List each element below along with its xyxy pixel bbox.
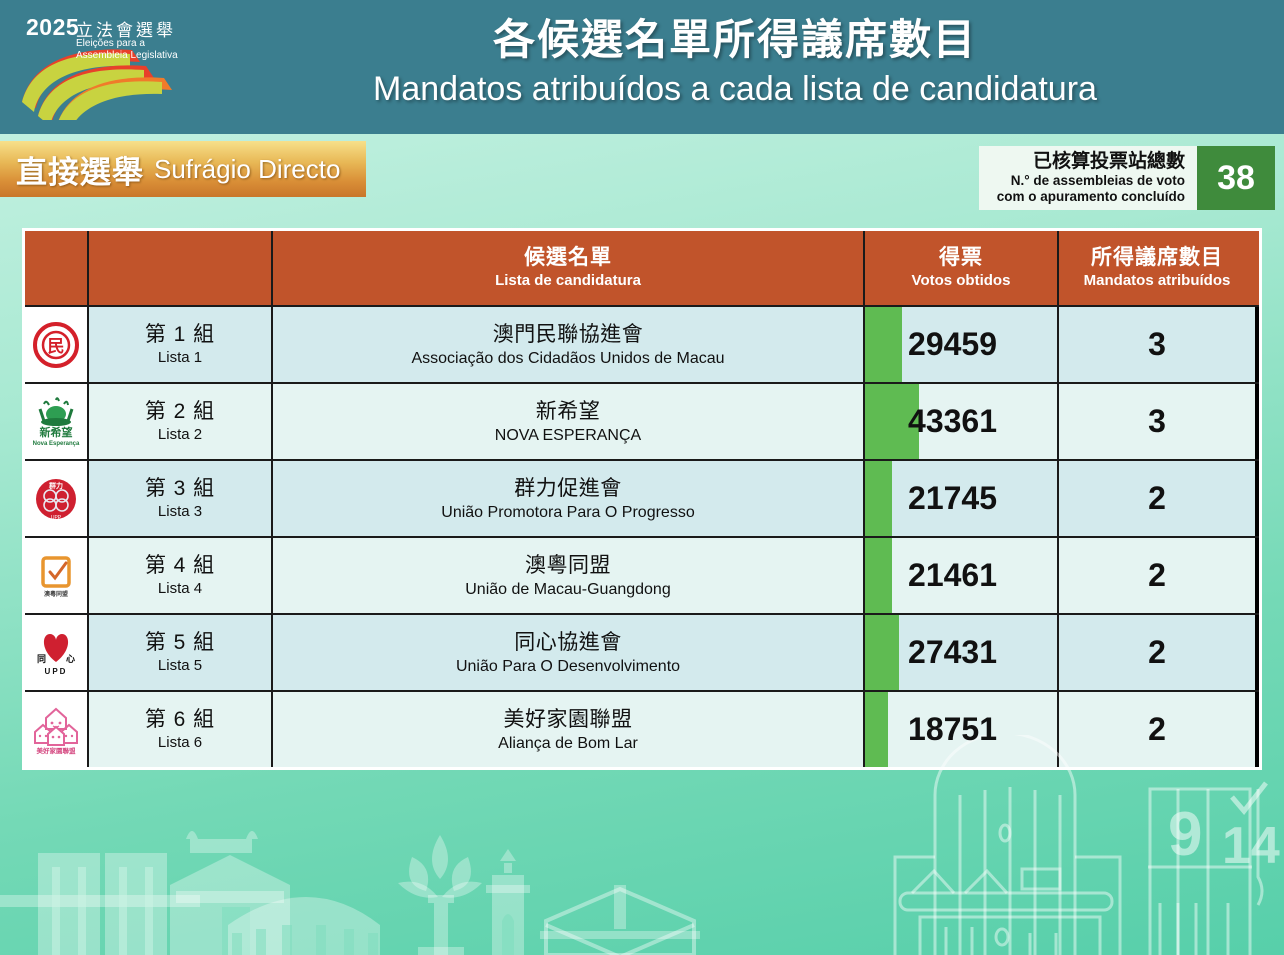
candidate-name-pt: União Promotora Para O Progresso	[441, 502, 694, 523]
candidate-list-name-cell: 群力促進會 União Promotora Para O Progresso	[273, 461, 865, 536]
counter-label-pt-line1: N.° de assembleias de voto	[1011, 173, 1185, 189]
candidate-name-cn: 澳門民聯協進會	[411, 321, 724, 348]
party-logo-cell: 新希望 Nova Esperança	[25, 384, 89, 459]
seats-value: 2	[1148, 557, 1166, 594]
table-row: 群力 UPP 第 3 組 Lista 3 群力促進會 União Promoto…	[25, 459, 1259, 536]
logo-title-pt-line2: Assembleia Legislativa	[76, 50, 178, 61]
header-seats-pt: Mandatos atribuídos	[1084, 271, 1231, 291]
seats-value: 2	[1148, 480, 1166, 517]
list-number-cn: 第 1 組	[145, 322, 215, 348]
date-day-label: 14	[1222, 817, 1280, 875]
date-month-label: 9	[1168, 800, 1202, 869]
candidate-list-name-cell: 澳粵同盟 União de Macau-Guangdong	[273, 538, 865, 613]
candidate-list-name-cell: 美好家園聯盟 Aliança de Bom Lar	[273, 692, 865, 767]
party-logo-cell: 群力 UPP	[25, 461, 89, 536]
candidate-name-pt: NOVA ESPERANÇA	[495, 425, 641, 446]
svg-text:UPD: UPD	[45, 667, 68, 676]
list-number-cell: 第 5 組 Lista 5	[89, 615, 273, 690]
header-candidate-list-column: 候選名單 Lista de candidatura	[273, 231, 865, 305]
candidate-name-cn: 新希望	[495, 398, 641, 425]
list-number-pt: Lista 5	[145, 656, 215, 675]
votes-bar	[865, 307, 902, 382]
list-number-cell: 第 1 組 Lista 1	[89, 307, 273, 382]
votes-cell: 18751	[865, 692, 1059, 767]
counter-label-pt-line2: com o apuramento concluído	[997, 189, 1185, 205]
svg-text:民: 民	[48, 337, 65, 356]
header-votes-cn: 得票	[939, 245, 983, 271]
candidate-list-name-cell: 澳門民聯協進會 Associação dos Cidadãos Unidos d…	[273, 307, 865, 382]
table-row: 民 第 1 組 Lista 1 澳門民聯協進會 Associação dos C…	[25, 305, 1259, 382]
list-number-pt: Lista 4	[145, 579, 215, 598]
svg-text:美好家園聯盟: 美好家園聯盟	[37, 746, 77, 755]
candidate-name-pt: Aliança de Bom Lar	[498, 733, 638, 754]
svg-text:澳粵同盟: 澳粵同盟	[44, 590, 68, 598]
list-number-cn: 第 5 組	[145, 630, 215, 656]
page-header: 2025 立法會選舉 Eleições para a Assembleia Le…	[0, 0, 1284, 134]
election-type-banner: 直接選舉 Sufrágio Directo	[0, 141, 366, 197]
macau-citizens-union-logo-icon: 民	[31, 320, 81, 370]
skyline-date-numbers: 9 14	[1168, 800, 1280, 875]
svg-text:群力: 群力	[49, 481, 63, 490]
list-number-cn: 第 2 組	[145, 399, 215, 425]
seats-value: 3	[1148, 403, 1166, 440]
header-seats-column: 所得議席數目 Mandatos atribuídos	[1059, 231, 1255, 305]
page-title-pt: Mandatos atribuídos a cada lista de cand…	[200, 66, 1270, 112]
list-number-cell: 第 4 組 Lista 4	[89, 538, 273, 613]
alianca-bom-lar-logo-icon: 美好家園聯盟	[30, 705, 82, 755]
votes-bar	[865, 538, 892, 613]
votes-value: 29459	[908, 326, 1039, 363]
table-row: 同 心 UPD 第 5 組 Lista 5 同心協進會 União Para O…	[25, 613, 1259, 690]
candidate-name-pt: União Para O Desenvolvimento	[456, 656, 680, 677]
page-title-block: 各候選名單所得議席數目 Mandatos atribuídos a cada l…	[200, 14, 1270, 112]
election-type-cn: 直接選舉	[16, 147, 144, 192]
logo-title-pt-line1: Eleições para a	[76, 38, 145, 49]
votes-value: 21745	[908, 480, 1039, 517]
list-number-pt: Lista 6	[145, 733, 215, 752]
header-list-pt: Lista de candidatura	[495, 271, 641, 291]
seats-cell: 3	[1059, 384, 1255, 459]
list-number-cn: 第 4 組	[145, 553, 215, 579]
page-title-cn: 各候選名單所得議席數目	[200, 14, 1270, 66]
seats-value: 2	[1148, 711, 1166, 748]
seats-value: 2	[1148, 634, 1166, 671]
candidate-list-name-cell: 新希望 NOVA ESPERANÇA	[273, 384, 865, 459]
results-table: 候選名單 Lista de candidatura 得票 Votos obtid…	[22, 228, 1262, 770]
table-header-row: 候選名單 Lista de candidatura 得票 Votos obtid…	[25, 231, 1259, 305]
election-type-pt: Sufrágio Directo	[154, 154, 340, 185]
party-logo-cell: 民	[25, 307, 89, 382]
svg-text:Nova Esperança: Nova Esperança	[33, 441, 80, 447]
header-list-cn: 候選名單	[524, 245, 612, 271]
candidate-name-cn: 同心協進會	[456, 629, 680, 656]
party-logo-cell: 同 心 UPD	[25, 615, 89, 690]
votes-bar	[865, 461, 892, 536]
svg-text:心: 心	[66, 654, 75, 664]
polling-stations-counter: 已核算投票站總數 N.° de assembleias de voto com …	[979, 146, 1275, 210]
counter-label-cn: 已核算投票站總數	[1033, 150, 1185, 173]
party-logo-cell: 美好家園聯盟	[25, 692, 89, 767]
list-number-cell: 第 6 組 Lista 6	[89, 692, 273, 767]
header-votes-column: 得票 Votos obtidos	[865, 231, 1059, 305]
candidate-name-pt: União de Macau-Guangdong	[465, 579, 670, 600]
votes-value: 21461	[908, 557, 1039, 594]
logo-title-pt: Eleições para a Assembleia Legislativa	[76, 38, 178, 62]
svg-text:新希望: 新希望	[40, 425, 73, 439]
seats-cell: 3	[1059, 307, 1255, 382]
votes-cell: 21745	[865, 461, 1059, 536]
seats-value: 3	[1148, 326, 1166, 363]
votes-cell: 29459	[865, 307, 1059, 382]
list-number-pt: Lista 2	[145, 425, 215, 444]
header-list-number-column	[89, 231, 273, 305]
table-row: 美好家園聯盟 第 6 組 Lista 6 美好家園聯盟 Aliança de B…	[25, 690, 1259, 767]
seats-cell: 2	[1059, 692, 1255, 767]
uniao-desenvolvimento-upd-logo-icon: 同 心 UPD	[30, 628, 82, 678]
list-number-cn: 第 3 組	[145, 476, 215, 502]
candidate-name-cn: 澳粵同盟	[465, 552, 670, 579]
votes-cell: 43361	[865, 384, 1059, 459]
list-number-cell: 第 2 組 Lista 2	[89, 384, 273, 459]
skyline-left-group	[0, 831, 700, 955]
nova-esperanca-logo-icon: 新希望 Nova Esperança	[30, 396, 82, 448]
table-row: 澳粵同盟 第 4 組 Lista 4 澳粵同盟 União de Macau-G…	[25, 536, 1259, 613]
seats-cell: 2	[1059, 615, 1255, 690]
checkmark-icon	[1232, 783, 1266, 811]
list-number-cell: 第 3 組 Lista 3	[89, 461, 273, 536]
header-seats-cn: 所得議席數目	[1091, 245, 1223, 271]
party-logo-cell: 澳粵同盟	[25, 538, 89, 613]
candidate-list-name-cell: 同心協進會 União Para O Desenvolvimento	[273, 615, 865, 690]
votes-cell: 27431	[865, 615, 1059, 690]
svg-text:UPP: UPP	[51, 515, 62, 521]
list-number-cn: 第 6 組	[145, 707, 215, 733]
votes-value: 18751	[908, 711, 1039, 748]
candidate-name-cn: 群力促進會	[441, 475, 694, 502]
list-number-pt: Lista 3	[145, 502, 215, 521]
candidate-name-pt: Associação dos Cidadãos Unidos de Macau	[411, 348, 724, 369]
seats-cell: 2	[1059, 538, 1255, 613]
header-logo-column	[25, 231, 89, 305]
votes-bar	[865, 615, 899, 690]
candidate-name-cn: 美好家園聯盟	[498, 706, 638, 733]
uniao-macau-guangdong-logo-icon: 澳粵同盟	[32, 551, 80, 601]
list-number-pt: Lista 1	[145, 348, 215, 367]
table-row: 新希望 Nova Esperança 第 2 組 Lista 2 新希望 NOV…	[25, 382, 1259, 459]
counter-value: 38	[1197, 146, 1275, 210]
votes-value: 27431	[908, 634, 1039, 671]
seats-cell: 2	[1059, 461, 1255, 536]
logo-year: 2025	[26, 14, 79, 41]
svg-text:同: 同	[37, 654, 46, 664]
header-votes-pt: Votos obtidos	[912, 271, 1011, 291]
uniao-promotora-progresso-logo-icon: 群力 UPP	[31, 474, 81, 524]
counter-labels: 已核算投票站總數 N.° de assembleias de voto com …	[979, 146, 1197, 210]
election-logo: 2025 立法會選舉 Eleições para a Assembleia Le…	[14, 10, 194, 120]
votes-value: 43361	[908, 403, 1039, 440]
votes-cell: 21461	[865, 538, 1059, 613]
votes-bar	[865, 692, 888, 767]
